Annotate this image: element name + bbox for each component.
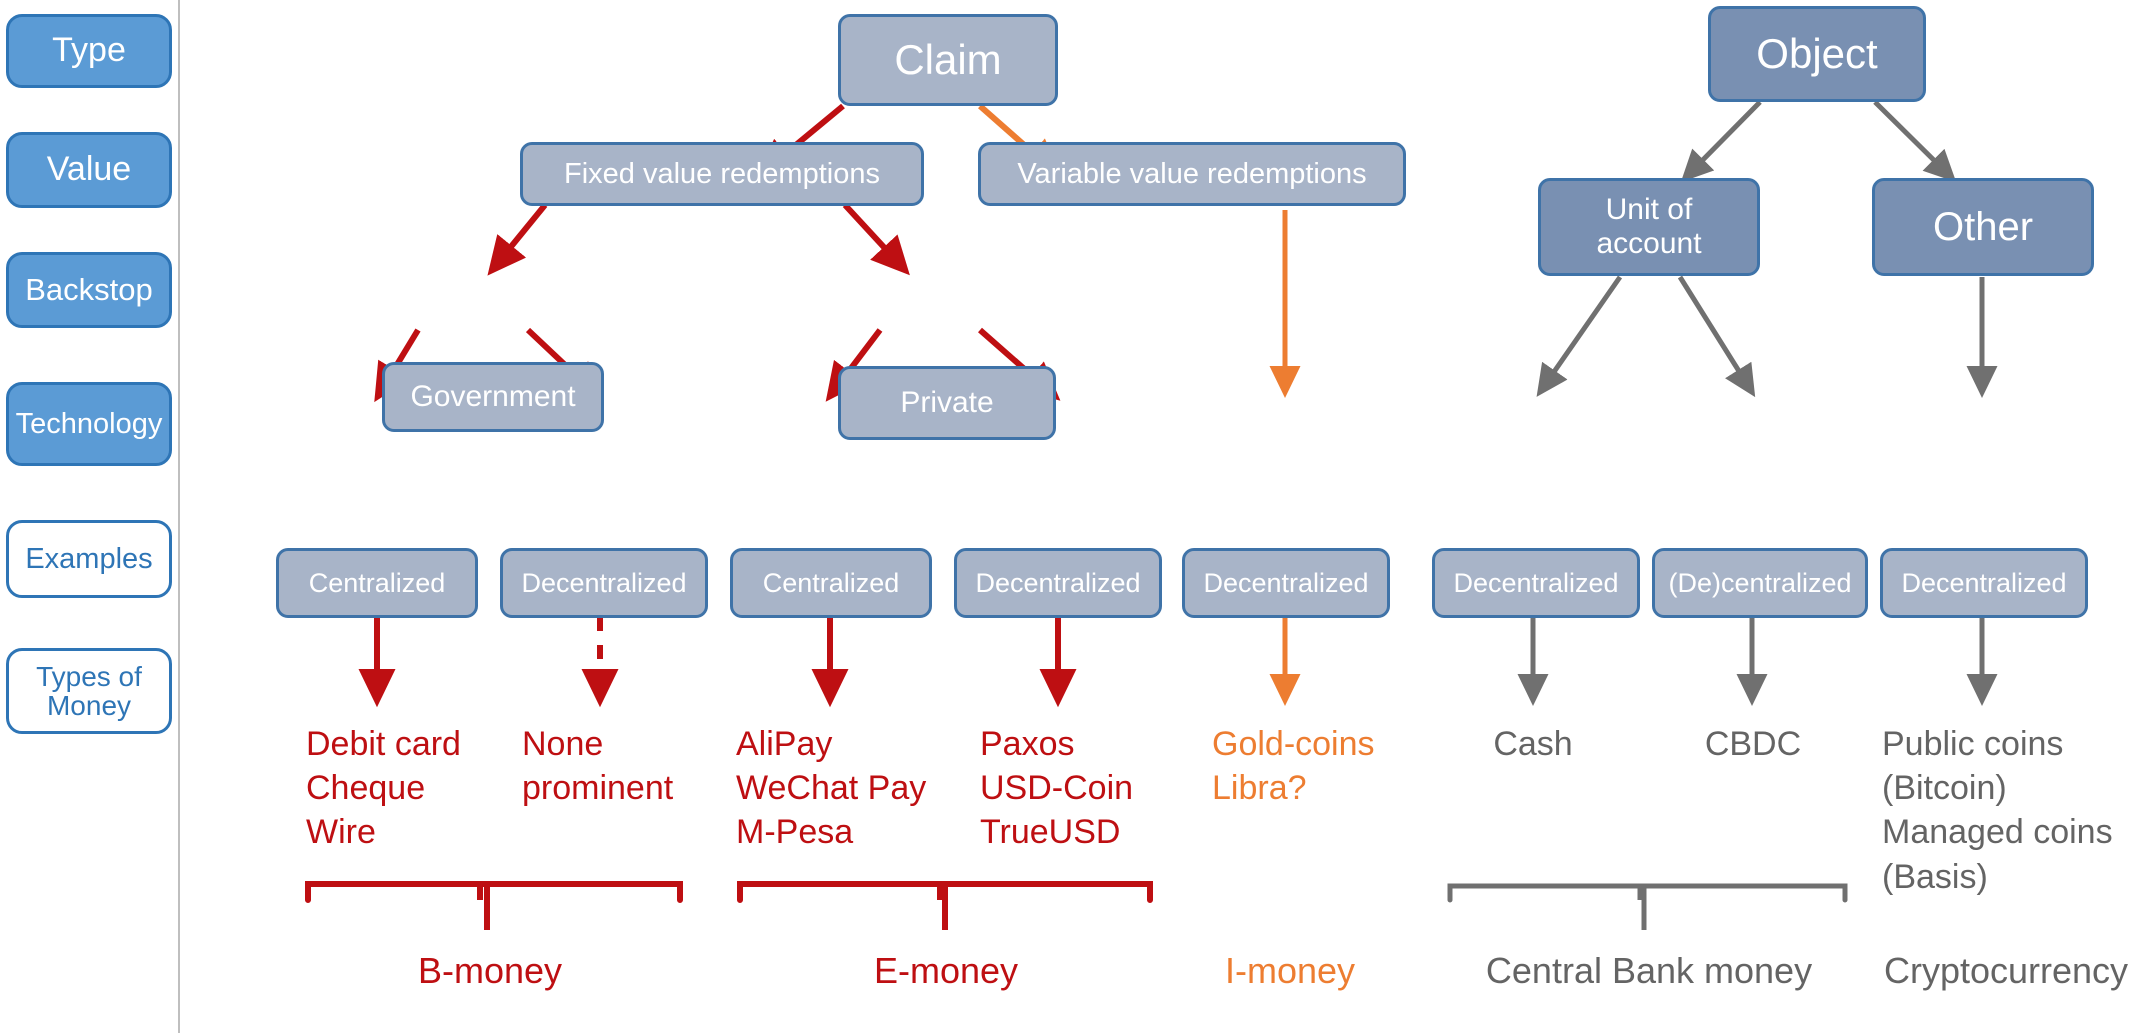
node-tech-other-decentralized-label: Decentralized	[1901, 568, 2066, 598]
node-other[interactable]: Other	[1872, 178, 2094, 276]
node-other-label: Other	[1933, 205, 2033, 250]
node-tech-gov-decentralized-label: Decentralized	[521, 568, 686, 598]
row-label-examples-text: Examples	[25, 544, 152, 574]
node-claim-label: Claim	[894, 36, 1001, 83]
node-unit-of-account-label: Unit of account	[1596, 193, 1701, 260]
node-object[interactable]: Object	[1708, 6, 1926, 102]
node-tech-variable-decentralized-label: Decentralized	[1203, 568, 1368, 598]
row-label-type: Type	[6, 14, 172, 88]
types-of-money-b-money: B-money	[380, 948, 600, 995]
node-tech-priv-decentralized-label: Decentralized	[975, 568, 1140, 598]
types-of-money-e-money: E-money	[836, 948, 1056, 995]
node-claim[interactable]: Claim	[838, 14, 1058, 106]
row-label-types-of-money: Types of Money	[6, 648, 172, 734]
column-divider	[178, 0, 180, 1033]
row-label-backstop: Backstop	[6, 252, 172, 328]
node-tech-uoa-decentralized-2[interactable]: (De)centralized	[1652, 548, 1868, 618]
node-government-label: Government	[410, 380, 575, 414]
row-label-value-text: Value	[47, 152, 131, 188]
diagram-canvas: Type Value Backstop Technology Examples …	[0, 0, 2145, 1033]
node-tech-uoa-decentralized-2-label: (De)centralized	[1668, 568, 1851, 598]
node-fixed-value-redemptions[interactable]: Fixed value redemptions	[520, 142, 924, 206]
node-tech-gov-centralized[interactable]: Centralized	[276, 548, 478, 618]
examples-cbdc: CBDC	[1668, 722, 1838, 766]
node-unit-of-account[interactable]: Unit of account	[1538, 178, 1760, 276]
row-label-backstop-text: Backstop	[25, 274, 153, 307]
examples-e-money-decentralized: Paxos USD-Coin TrueUSD	[980, 722, 1210, 855]
node-tech-priv-centralized[interactable]: Centralized	[730, 548, 932, 618]
node-tech-priv-centralized-label: Centralized	[763, 568, 900, 598]
examples-cryptocurrency: Public coins (Bitcoin) Managed coins (Ba…	[1882, 722, 2142, 899]
node-tech-uoa-decentralized[interactable]: Decentralized	[1432, 548, 1640, 618]
examples-cash: Cash	[1448, 722, 1618, 766]
row-label-technology: Technology	[6, 382, 172, 466]
node-tech-priv-decentralized[interactable]: Decentralized	[954, 548, 1162, 618]
row-label-types-of-money-text: Types of Money	[36, 662, 142, 721]
row-label-examples: Examples	[6, 520, 172, 598]
node-fixed-value-redemptions-label: Fixed value redemptions	[564, 158, 880, 190]
examples-i-money: Gold-coins Libra?	[1212, 722, 1432, 810]
row-label-technology-text: Technology	[16, 409, 163, 439]
examples-b-money-decentralized: None prominent	[522, 722, 742, 810]
node-tech-variable-decentralized[interactable]: Decentralized	[1182, 548, 1390, 618]
node-government[interactable]: Government	[382, 362, 604, 432]
examples-e-money-centralized: AliPay WeChat Pay M-Pesa	[736, 722, 976, 855]
row-label-value: Value	[6, 132, 172, 208]
row-label-type-text: Type	[52, 33, 126, 69]
node-tech-uoa-decentralized-label: Decentralized	[1453, 568, 1618, 598]
node-tech-other-decentralized[interactable]: Decentralized	[1880, 548, 2088, 618]
node-variable-value-redemptions[interactable]: Variable value redemptions	[978, 142, 1406, 206]
node-private-label: Private	[900, 386, 993, 420]
node-tech-gov-centralized-label: Centralized	[309, 568, 446, 598]
node-tech-gov-decentralized[interactable]: Decentralized	[500, 548, 708, 618]
types-of-money-central-bank-money: Central Bank money	[1474, 948, 1824, 995]
types-of-money-i-money: I-money	[1190, 948, 1390, 995]
examples-b-money-centralized: Debit card Cheque Wire	[306, 722, 516, 855]
node-object-label: Object	[1756, 30, 1877, 77]
types-of-money-cryptocurrency: Cryptocurrency	[1866, 948, 2145, 995]
node-variable-value-redemptions-label: Variable value redemptions	[1017, 158, 1366, 190]
node-private[interactable]: Private	[838, 366, 1056, 440]
